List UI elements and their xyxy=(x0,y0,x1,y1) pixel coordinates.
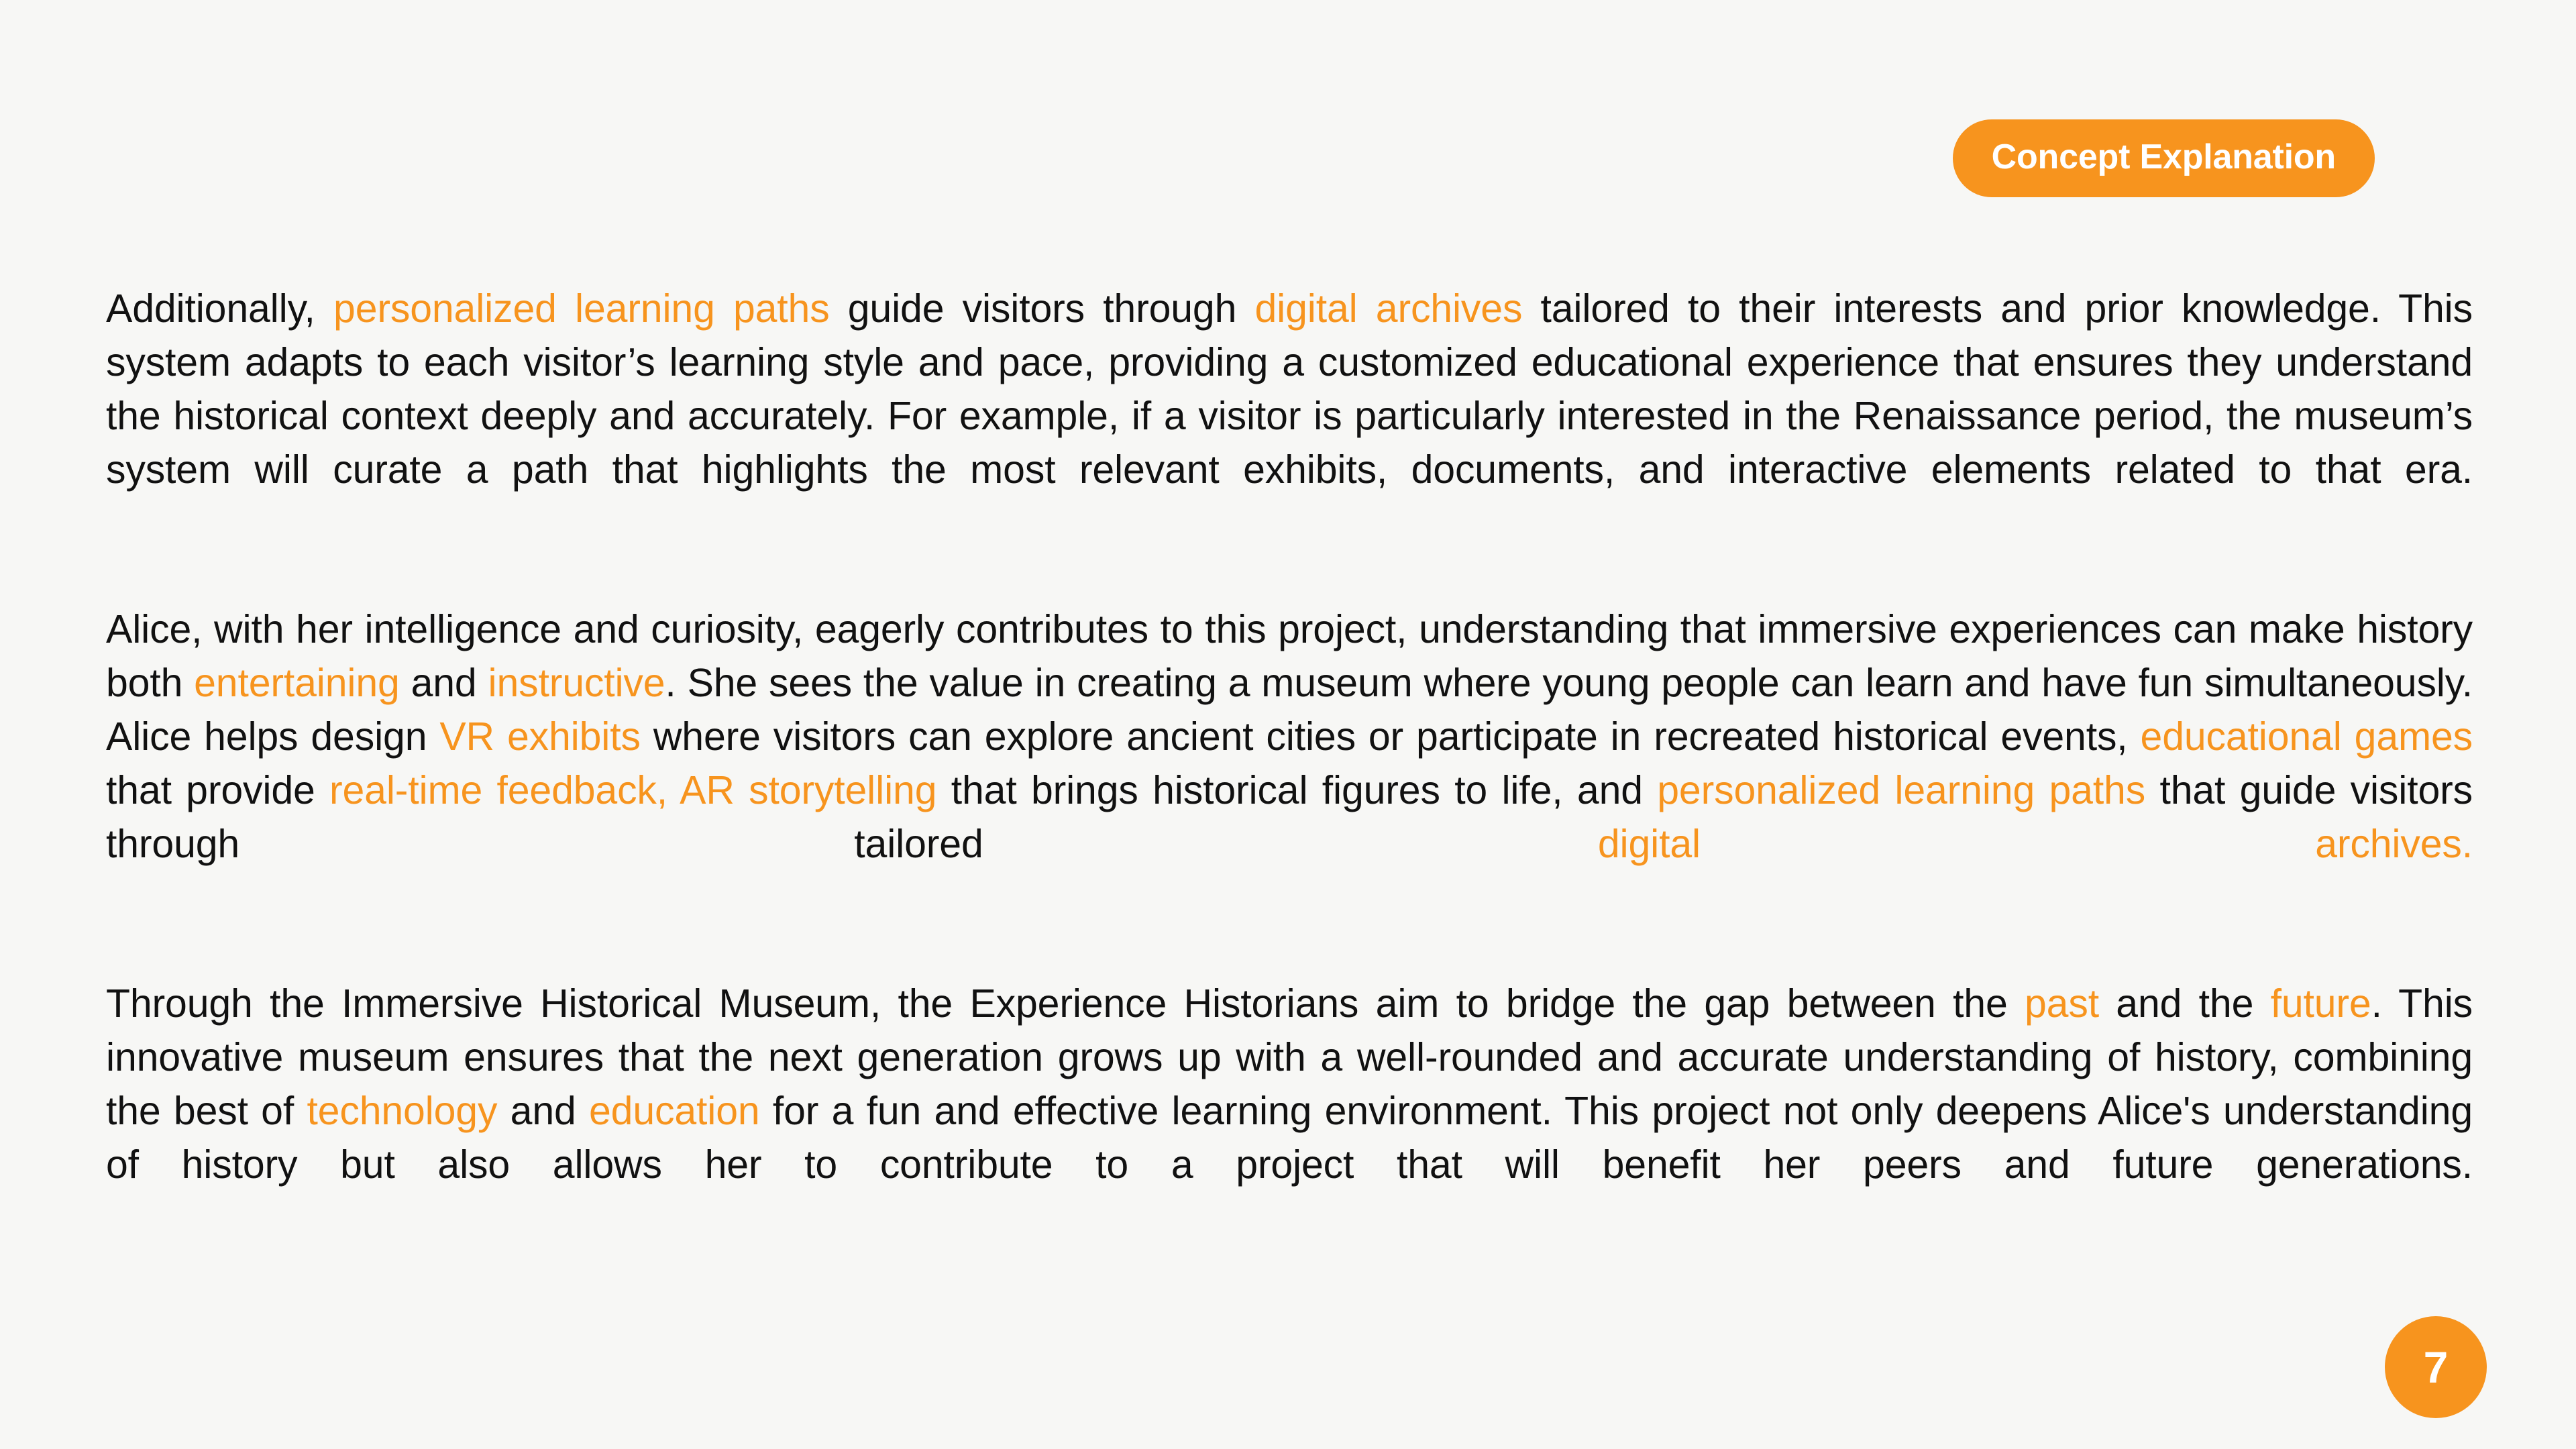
highlighted-phrase: future xyxy=(2271,981,2371,1026)
highlighted-phrase: VR exhibits xyxy=(439,714,641,759)
highlighted-phrase: digital archives xyxy=(1254,286,1522,331)
highlighted-phrase: entertaining xyxy=(194,661,400,705)
highlighted-phrase: personalized learning paths xyxy=(333,286,830,331)
paragraph-2: Alice, with her intelligence and curiosi… xyxy=(106,602,2473,924)
highlighted-phrase: digital archives. xyxy=(1598,822,2473,866)
highlighted-phrase: personalized learning paths xyxy=(1657,768,2145,812)
concept-explanation-badge: Concept Explanation xyxy=(1953,119,2375,197)
highlighted-phrase: education xyxy=(589,1089,760,1133)
paragraph-3: Through the Immersive Historical Museum,… xyxy=(106,977,2473,1245)
highlighted-phrase: educational games xyxy=(2141,714,2473,759)
paragraph-1: Additionally, personalized learning path… xyxy=(106,282,2473,550)
highlighted-phrase: instructive xyxy=(488,661,665,705)
page-number-badge: 7 xyxy=(2385,1316,2487,1418)
slide-body-content: Additionally, personalized learning path… xyxy=(106,282,2473,1245)
highlighted-phrase: real-time feedback, AR storytelling xyxy=(329,768,936,812)
highlighted-phrase: technology xyxy=(307,1089,497,1133)
highlighted-phrase: past xyxy=(2025,981,2099,1026)
